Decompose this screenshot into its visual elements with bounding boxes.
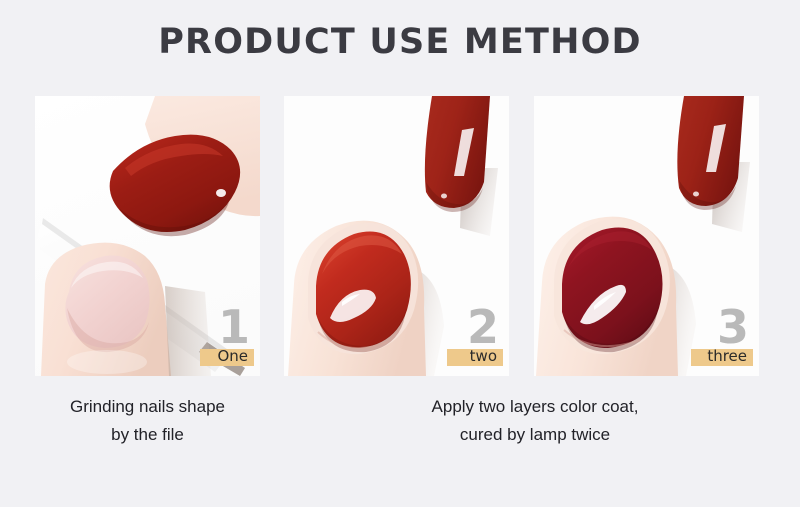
step-three-photo — [534, 96, 759, 376]
step-panel-one: 1 One — [35, 96, 260, 376]
caption-left-line-1: Grinding nails shape — [10, 393, 285, 421]
page-title: PRODUCT USE METHOD — [0, 22, 800, 62]
steps-row: 1 One — [0, 96, 800, 376]
caption-left: Grinding nails shape by the file — [10, 393, 285, 449]
caption-right-line-1: Apply two layers color coat, — [355, 393, 715, 421]
step-one-photo — [35, 96, 260, 376]
step-panel-three: 3 three — [534, 96, 759, 376]
caption-left-line-2: by the file — [10, 421, 285, 449]
caption-right-line-2: cured by lamp twice — [355, 421, 715, 449]
caption-right: Apply two layers color coat, cured by la… — [355, 393, 715, 449]
step-two-photo — [284, 96, 509, 376]
step-panel-two: 2 two — [284, 96, 509, 376]
